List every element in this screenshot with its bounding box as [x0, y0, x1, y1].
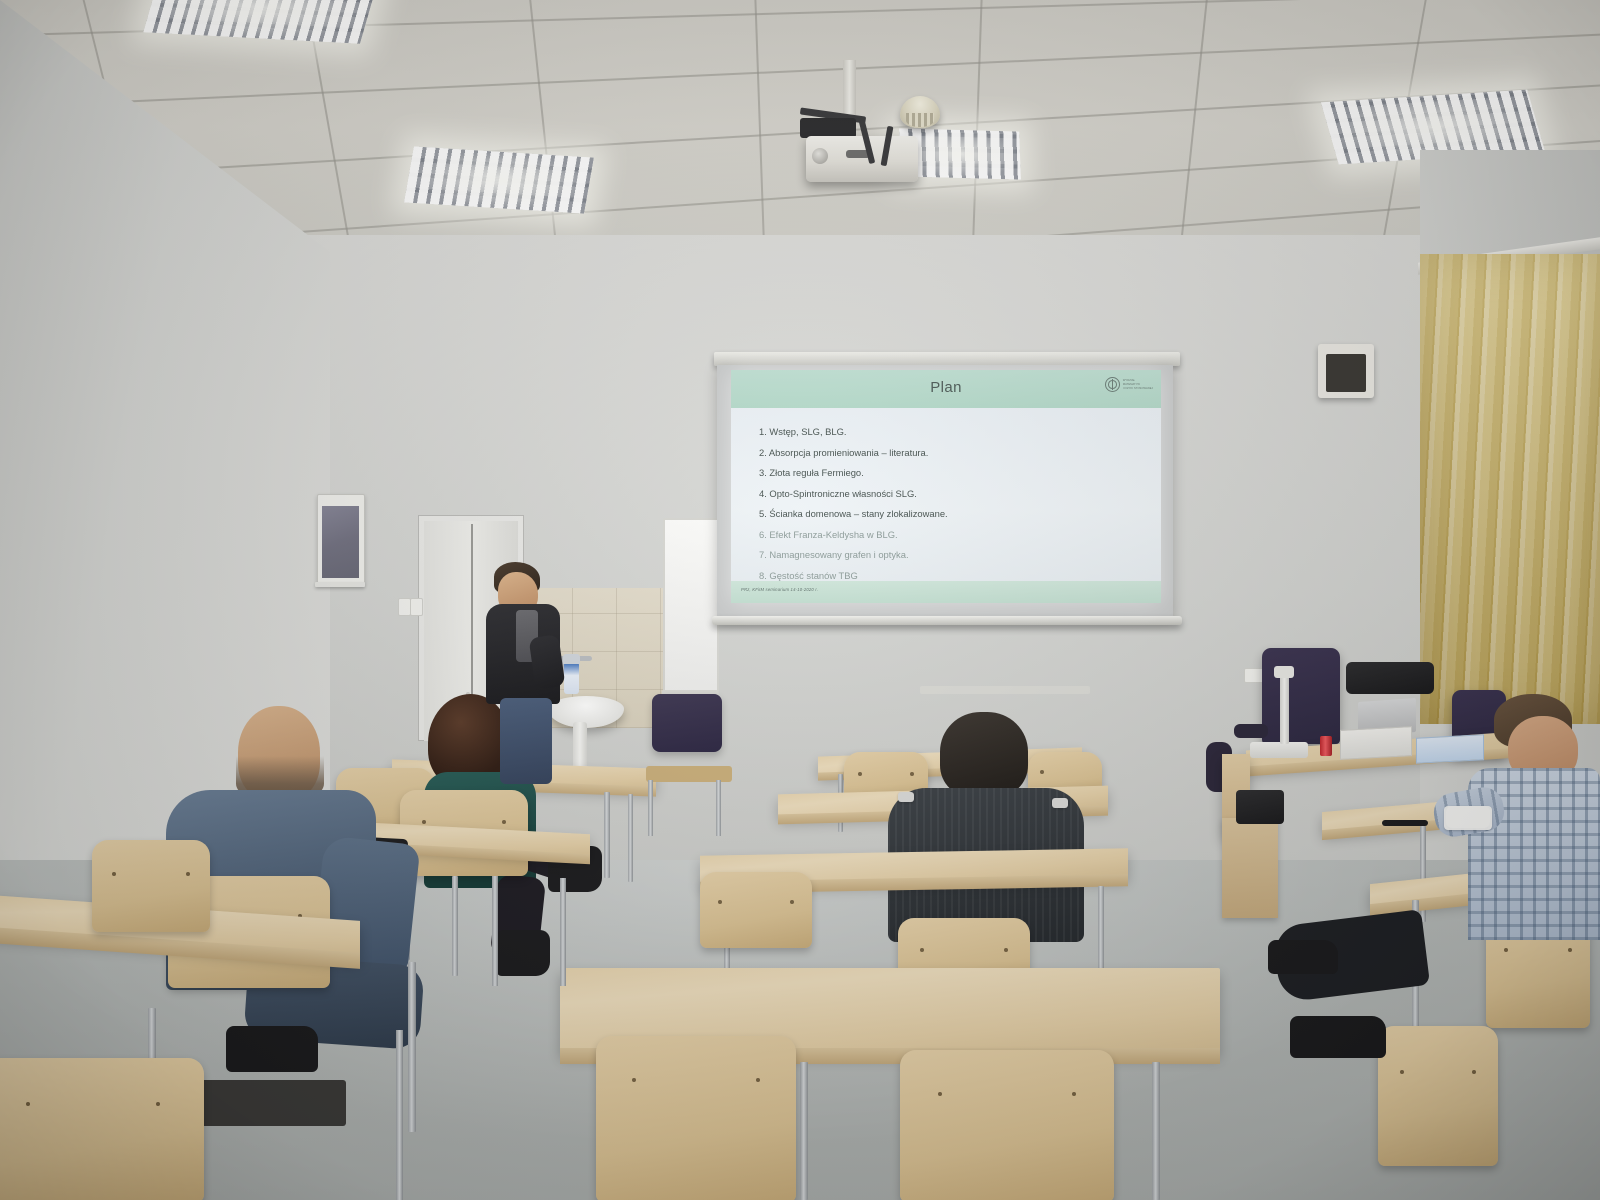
- chair-back[interactable]: [652, 694, 722, 752]
- screen-roller-casing: [714, 352, 1180, 366]
- presenter-legs: [500, 698, 552, 784]
- document-camera-head: [1274, 666, 1294, 678]
- vertical-blinds[interactable]: [1420, 254, 1600, 724]
- slide-item: 7. Namagnesowany grafen i optyka.: [759, 545, 1161, 566]
- equipment-box: [1340, 726, 1412, 760]
- projected-slide: Plan WYDZIAŁ MATEMATYKI I FIZYKI STOSOWA…: [731, 370, 1161, 603]
- chair-back[interactable]: [900, 1050, 1114, 1200]
- attendee-front-left-shoe: [226, 1026, 318, 1072]
- attendee-right-shoe: [1268, 940, 1338, 974]
- fire-panel-glass: [322, 506, 359, 578]
- slide-header: Plan WYDZIAŁ MATEMATYKI I FIZYKI STOSOWA…: [731, 370, 1161, 408]
- desk-leg: [800, 1062, 808, 1200]
- fire-panel-shelf: [315, 582, 365, 587]
- logo-line-1: WYDZIAŁ: [1123, 379, 1153, 382]
- desk-leg: [1098, 886, 1104, 972]
- face-mask: [1444, 806, 1492, 830]
- projector-mount-bracket: [800, 118, 856, 138]
- desk-leg: [1152, 1062, 1160, 1200]
- desk-leg: [628, 794, 633, 882]
- projection-screen: Plan WYDZIAŁ MATEMATYKI I FIZYKI STOSOWA…: [714, 352, 1180, 634]
- office-chair[interactable]: [1262, 648, 1340, 744]
- face-mask-strap: [898, 792, 914, 802]
- chair-leg: [492, 876, 498, 986]
- spray-bottle: [564, 662, 579, 694]
- desk-leg: [452, 876, 458, 976]
- light-switch[interactable]: [410, 598, 423, 616]
- attendee-right-shoe: [1290, 1016, 1386, 1058]
- wall-speaker-grille: [1326, 354, 1366, 392]
- slide-item: 2. Absorpcja promieniowania – literatura…: [759, 443, 1161, 464]
- spray-bottle-nozzle: [563, 654, 580, 664]
- equipment-pile: [1236, 790, 1284, 824]
- slide-item: 6. Efekt Franza-Keldysha w BLG.: [759, 525, 1161, 546]
- whiteboard: [663, 518, 719, 698]
- logo-line-2: MATEMATYKI: [1123, 383, 1153, 386]
- chair-back[interactable]: [700, 872, 812, 948]
- slide-title: Plan: [731, 379, 1161, 396]
- chair-back[interactable]: [1378, 1026, 1498, 1166]
- bag: [1346, 662, 1434, 694]
- slide-item: 3. Złota reguła Fermiego.: [759, 463, 1161, 484]
- university-logo: WYDZIAŁ MATEMATYKI I FIZYKI STOSOWANEJ: [1105, 377, 1153, 392]
- chair-back[interactable]: [92, 840, 210, 932]
- marker-can: [1320, 736, 1332, 756]
- sink-pedestal: [573, 722, 587, 770]
- chair-leg: [716, 780, 721, 836]
- slide-item: 4. Opto-Spintroniczne własności SLG.: [759, 484, 1161, 505]
- attendee-mid-left-boot: [496, 930, 550, 976]
- ceiling-light-fixture: [404, 146, 594, 213]
- chair-back[interactable]: [596, 1036, 796, 1200]
- chair-seat: [196, 1080, 346, 1126]
- lecture-room-photo: Plan WYDZIAŁ MATEMATYKI I FIZYKI STOSOWA…: [0, 0, 1600, 1200]
- chair-leg: [648, 780, 653, 836]
- slide-body: 1. Wstęp, SLG, BLG. 2. Absorpcja promien…: [731, 408, 1161, 581]
- logo-line-3: I FIZYKI STOSOWANEJ: [1123, 387, 1153, 390]
- smoke-detector: [900, 96, 940, 128]
- desk-leg: [408, 962, 416, 1132]
- projector-lens: [812, 148, 828, 164]
- document-camera-base[interactable]: [1250, 742, 1308, 758]
- chair-back[interactable]: [0, 1058, 204, 1200]
- slide-footer-text: PRz, KFiIM seminarium 14-10-2020 r.: [741, 587, 818, 592]
- logo-emblem-icon: [1105, 377, 1120, 392]
- slide-item: 1. Wstęp, SLG, BLG.: [759, 422, 1161, 443]
- screen-bottom-bar[interactable]: [712, 616, 1182, 625]
- cardboard-carton: [1222, 818, 1278, 918]
- document-camera-arm: [1280, 672, 1289, 744]
- desk-leg: [604, 792, 610, 878]
- attendee-center-hair: [940, 712, 1028, 798]
- equipment-box: [1416, 734, 1484, 764]
- whiteboard-tray: [920, 686, 1090, 694]
- office-chair-armrest: [1234, 724, 1268, 738]
- eyeglasses: [1382, 820, 1428, 826]
- slide-footer: PRz, KFiIM seminarium 14-10-2020 r.: [731, 581, 1161, 603]
- face-mask-strap: [1052, 798, 1068, 808]
- slide-item: 5. Ścianka domenowa – stany zlokalizowan…: [759, 504, 1161, 525]
- chair-leg: [560, 878, 566, 986]
- chair-leg: [396, 1030, 403, 1200]
